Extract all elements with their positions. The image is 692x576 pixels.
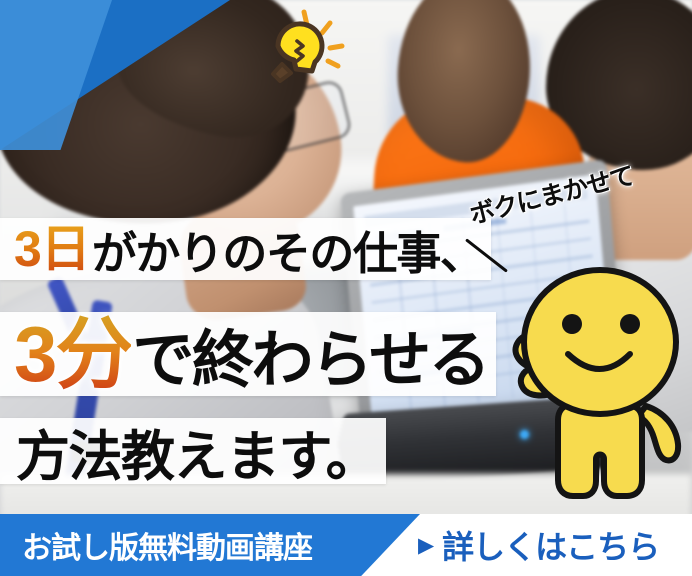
- mascot-character: [496, 238, 692, 538]
- cta-link[interactable]: ▶ 詳しくはこちら: [418, 514, 659, 576]
- cta-bar: お試し版無料動画講座 ▶ 詳しくはこちら: [0, 514, 692, 576]
- play-triangle-icon: ▶: [418, 535, 433, 556]
- headline-line-2: 3分 で終わらせる: [0, 312, 496, 396]
- mascot-body: [558, 406, 642, 496]
- headline-3-text: 方法教えます。: [16, 412, 378, 491]
- headline-line-1: 3日 がかりのその仕事、: [0, 218, 491, 280]
- headline-1-rest: がかりのその仕事、: [92, 217, 484, 282]
- mascot-head: [524, 270, 676, 414]
- mascot-eye-left: [562, 314, 582, 334]
- headline-2-rest: で終わらせる: [132, 309, 488, 399]
- cta-badge-label: お試し版無料動画講座: [22, 514, 312, 576]
- headline-line-3: 方法教えます。: [0, 418, 386, 484]
- lightbulb-icon: [258, 6, 356, 84]
- mascot-eye-right: [620, 314, 640, 334]
- ad-banner: 3日 がかりのその仕事、 3分 で終わらせる 方法教えます。 ボクにまかせて: [0, 0, 692, 576]
- headline-1-accent: 3日: [14, 224, 90, 274]
- cta-link-label: 詳しくはこちら: [442, 522, 659, 568]
- headline-2-accent: 3分: [14, 315, 131, 393]
